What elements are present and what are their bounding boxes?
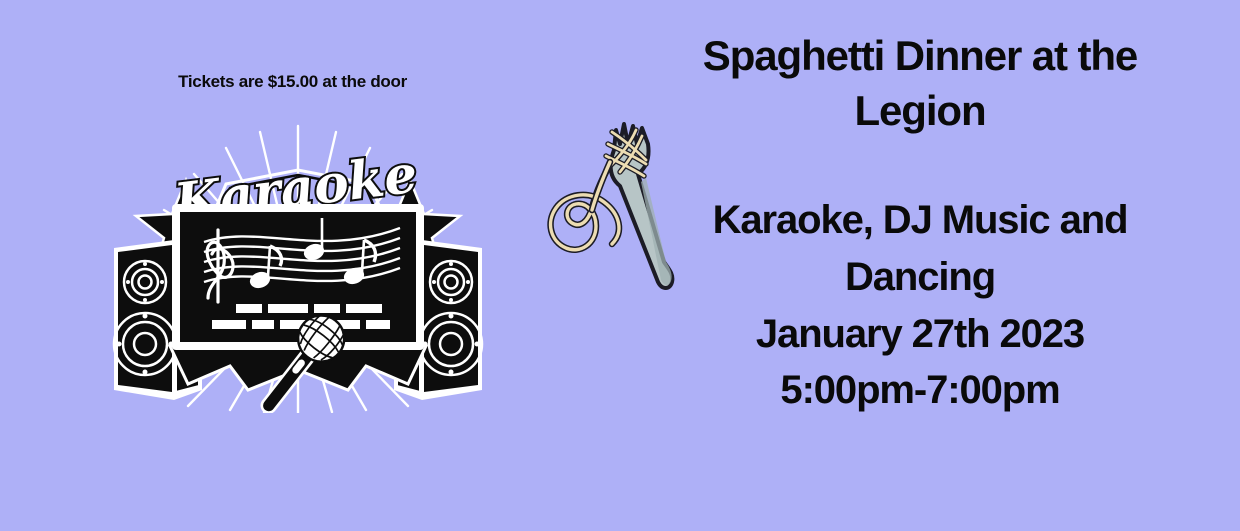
details-line-3: January 27th 2023 — [694, 306, 1146, 363]
event-text-column: Spaghetti Dinner at the Legion Karaoke, … — [700, 0, 1140, 531]
details-line-1: Karaoke, DJ Music and — [694, 192, 1146, 249]
details-block: Karaoke, DJ Music and Dancing January 27… — [694, 192, 1146, 419]
karaoke-party-logo: Karaoke party — [108, 118, 488, 413]
details-line-2: Dancing — [694, 249, 1146, 306]
headline-block: Spaghetti Dinner at the Legion — [700, 28, 1140, 139]
flyer-canvas: Tickets are $15.00 at the door — [0, 0, 1240, 531]
headline-line-1: Spaghetti Dinner — [703, 32, 1021, 79]
fork-with-spaghetti-illustration — [538, 122, 704, 297]
tickets-price-note: Tickets are $15.00 at the door — [0, 72, 585, 92]
details-line-4: 5:00pm-7:00pm — [694, 362, 1146, 419]
tv-screen — [172, 204, 424, 350]
